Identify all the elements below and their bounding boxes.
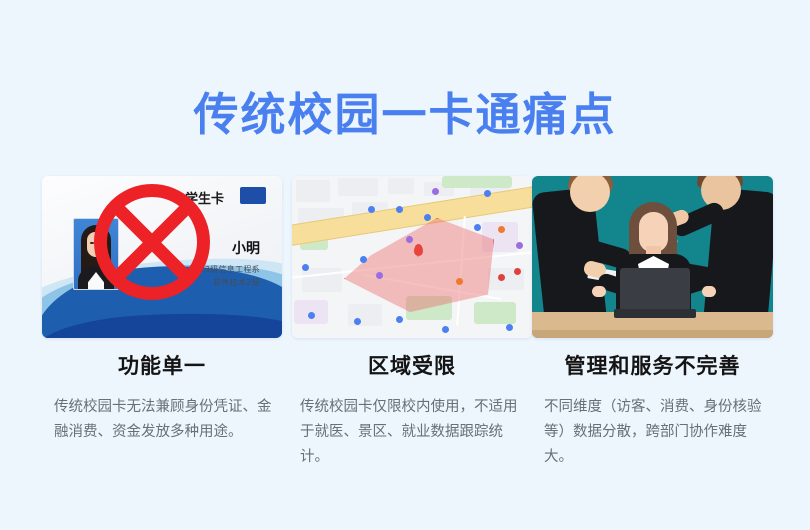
office-illustration (532, 176, 773, 338)
map-poi-dot (506, 324, 513, 331)
map-poi-dot (474, 224, 481, 231)
map-location-pin-icon (414, 244, 423, 256)
card-body-function: 传统校园卡无法兼顾身份凭证、金融消费、资金发放多种用途。 (54, 395, 282, 445)
card-image-row: 学生卡 小明 23级信息工程系 软件技术2班 (0, 176, 810, 338)
slide-root: 传统校园一卡通痛点 学生卡 小明 23级信息工程系 (0, 0, 810, 530)
map-illustration (292, 176, 532, 338)
student-name: 小明 (232, 238, 260, 258)
worker-hand-left (592, 286, 606, 297)
map-block (296, 180, 330, 202)
laptop-screen (620, 268, 690, 310)
map-poi-dot (396, 206, 403, 213)
map-poi-dot (424, 214, 431, 221)
map-poi-dot (354, 318, 361, 325)
map-poi-dot (432, 188, 439, 195)
map-park (442, 176, 512, 188)
map-poi-dot (368, 206, 375, 213)
map-poi-dot (498, 226, 505, 233)
card-heading-function: 功能单一 (42, 350, 282, 380)
card-body-management: 不同维度（访客、消费、身份核验等）数据分散，跨部门协作难度大。 (544, 395, 772, 470)
map-poi-dot (360, 256, 367, 263)
map-poi-dot (442, 326, 449, 333)
card-body-region: 传统校园卡仅限校内使用，不适用于就医、景区、就业数据跟踪统计。 (300, 395, 528, 470)
map-poi-dot (406, 236, 413, 243)
student-meta-line-2: 软件技术2班 (213, 277, 260, 288)
card-image-function[interactable]: 学生卡 小明 23级信息工程系 软件技术2班 (42, 176, 282, 338)
card-image-region[interactable] (292, 176, 532, 338)
map-poi-dot (516, 242, 523, 249)
student-meta-line-1: 23级信息工程系 (199, 264, 260, 275)
map-block (348, 304, 382, 326)
map-block (388, 178, 414, 194)
map-park (474, 302, 516, 324)
id-card-logo-icon (240, 187, 266, 204)
map-poi-dot (514, 268, 521, 275)
worker-hand-right (702, 286, 716, 297)
card-heading-management: 管理和服务不完善 (532, 350, 773, 380)
map-poi-dot (498, 274, 505, 281)
map-poi-dot (396, 316, 403, 323)
colleague-left-head (570, 176, 610, 212)
card-heading-region: 区域受限 (292, 350, 532, 380)
map-poi-dot (308, 312, 315, 319)
map-poi-dot (376, 272, 383, 279)
map-poi-dot (302, 264, 309, 271)
laptop-base (614, 309, 696, 318)
prohibition-cross-icon (94, 184, 210, 300)
page-title: 传统校园一卡通痛点 (0, 78, 810, 143)
map-poi-dot (456, 278, 463, 285)
map-block (338, 178, 378, 196)
desk-edge (532, 330, 773, 338)
map-poi-dot (484, 190, 491, 197)
card-heading-row: 功能单一 区域受限 管理和服务不完善 (0, 350, 810, 380)
card-image-management[interactable] (532, 176, 773, 338)
